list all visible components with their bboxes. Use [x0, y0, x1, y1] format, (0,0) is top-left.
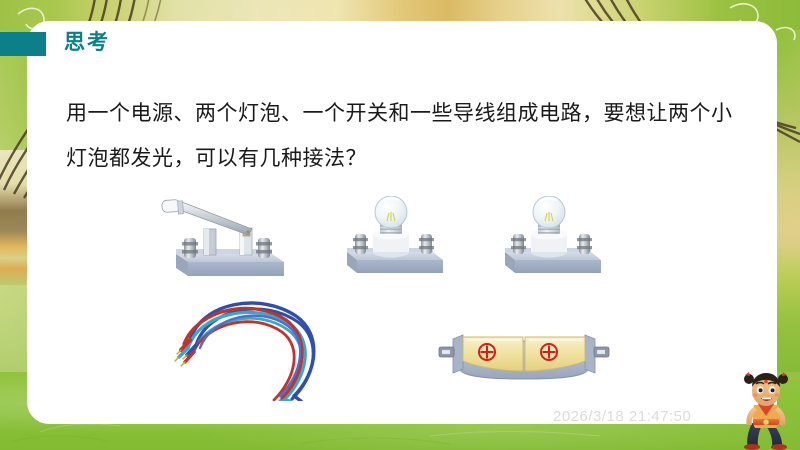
nezha-character-image	[736, 371, 798, 450]
page-title: 思考	[64, 30, 110, 56]
question-line-1: 用一个电源、两个灯泡、一个开关和一些导线组成电路，要想让两	[66, 102, 690, 125]
slide-canvas: 思考 用一个电源、两个灯泡、一个开关和一些导线组成电路，要想让两个小灯泡都发光，…	[0, 0, 800, 450]
content-card	[27, 21, 777, 424]
question-text: 用一个电源、两个灯泡、一个开关和一些导线组成电路，要想让两个小灯泡都发光，可以有…	[66, 91, 734, 181]
heading-accent-bar	[0, 32, 46, 56]
timestamp-watermark: 2026/3/18 21:47:50	[553, 408, 691, 425]
